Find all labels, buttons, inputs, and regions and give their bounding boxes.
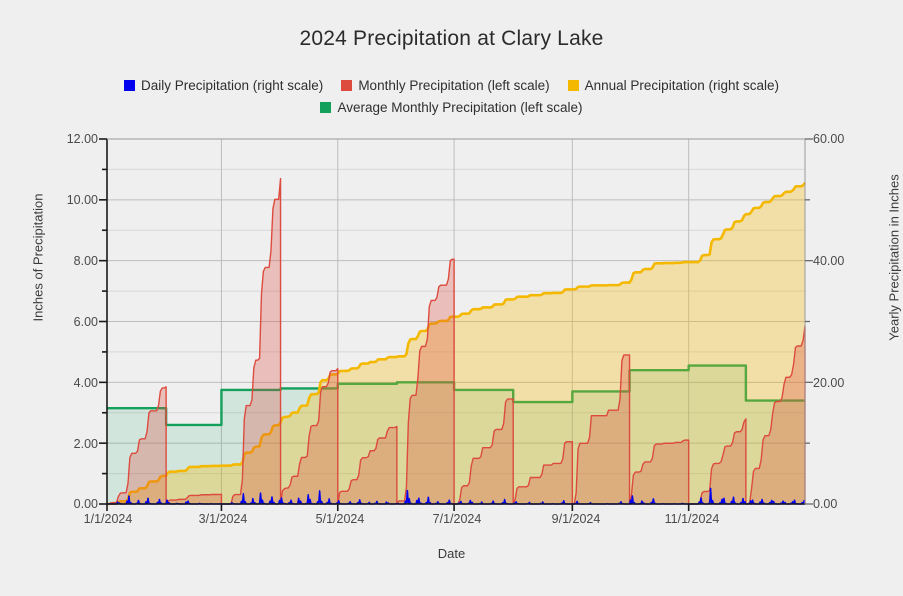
chart-container: 2024 Precipitation at Clary Lake Daily P… <box>0 0 903 596</box>
plot-area <box>0 0 903 596</box>
